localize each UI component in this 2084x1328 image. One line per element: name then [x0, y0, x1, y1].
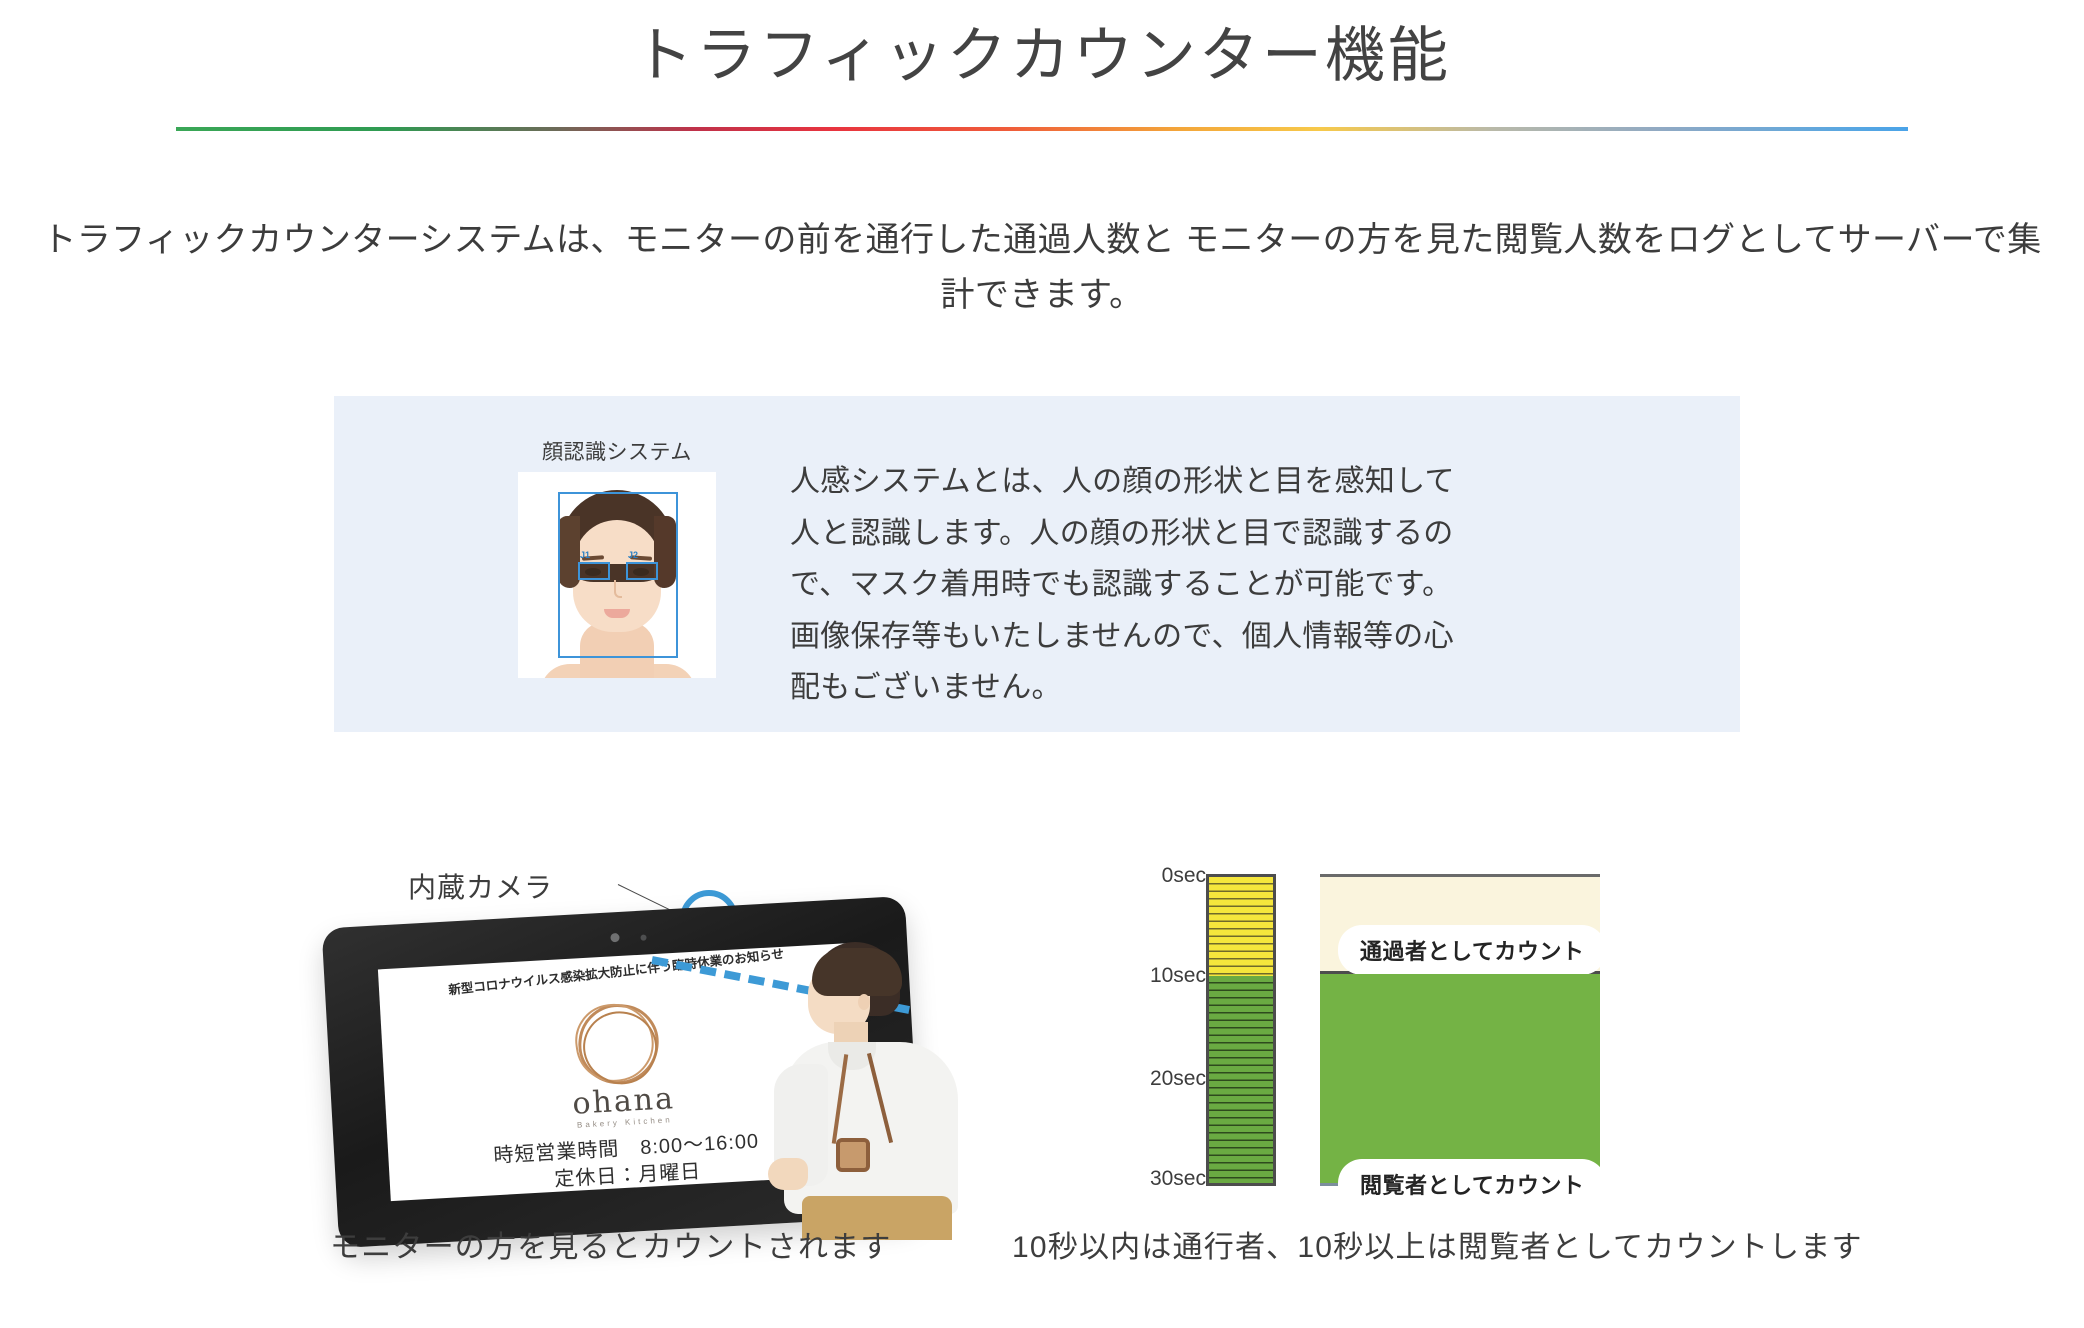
builtin-camera-label: 内蔵カメラ: [408, 866, 553, 906]
monitor-caption: モニターの方を見るとカウントされます: [330, 1222, 892, 1266]
tablet-camera-lens-icon: [610, 933, 619, 942]
zone-panels: 通過者としてカウント 閲覧者としてカウント: [1320, 874, 1600, 1186]
intro-paragraph: トラフィックカウンターシステムは、モニターの前を通行した通過人数と モニターの方…: [42, 213, 2042, 323]
face-recognition-caption: 顔認識システム: [518, 436, 716, 466]
face-recognition-description: 人感システムとは、人の顔の形状と目を感知して人と認識します。人の顔の形状と目で認…: [790, 456, 1480, 714]
axis-tick-20sec: 20sec: [1150, 1067, 1206, 1091]
axis-tick-0sec: 0sec: [1162, 864, 1206, 888]
title-gradient-divider: [176, 127, 1908, 131]
axis-tick-10sec: 10sec: [1150, 964, 1206, 988]
face-photo: J1 J2: [518, 472, 716, 678]
page-title: トラフィックカウンター機能: [0, 18, 2084, 93]
person-hair-top: [812, 948, 902, 996]
camera-leader-line: [618, 884, 671, 910]
eye-detection-box-left: [578, 562, 610, 580]
person-ear: [858, 994, 870, 1010]
tablet-sensor-dot-icon: [640, 934, 646, 940]
time-stripe-bar: [1206, 874, 1276, 1186]
zone-viewer: 閲覧者としてカウント: [1320, 974, 1600, 1186]
eye-detection-label-j1: J1: [580, 550, 590, 560]
chart-caption: 10秒以内は通行者、10秒以上は閲覧者としてカウントします: [1012, 1222, 1863, 1266]
zone-passerby: 通過者としてカウント: [1320, 874, 1600, 974]
stripe-segment-passerby: [1209, 877, 1273, 976]
viewer-person-illustration: [762, 942, 992, 1238]
face-recognition-panel: 顔認識システム J1 J2 人感システムとは、人の顔の形状と目を感知して人と認識…: [334, 396, 1740, 732]
eye-detection-box-right: [626, 562, 658, 580]
person-hand: [768, 1158, 808, 1190]
person-id-badge-icon: [836, 1138, 870, 1172]
stripe-segment-viewer: [1209, 976, 1273, 1183]
viewer-count-pill: 閲覧者としてカウント: [1338, 1159, 1606, 1209]
face-recognition-figure: 顔認識システム J1 J2: [518, 436, 716, 678]
axis-tick-30sec: 30sec: [1150, 1167, 1206, 1191]
monitor-illustration: 内蔵カメラ 新型コロナウイルス感染拡大防止に伴う臨時休業のお知らせ ohana …: [330, 860, 1030, 1260]
face-detection-box: [558, 492, 678, 658]
eye-detection-label-j2: J2: [628, 550, 638, 560]
timing-chart: 0sec 10sec 20sec 30sec 通過者としてカウント 閲覧者として…: [1140, 870, 1600, 1210]
passerby-count-pill: 通過者としてカウント: [1338, 925, 1606, 975]
ohana-logo-icon: [575, 1000, 663, 1088]
